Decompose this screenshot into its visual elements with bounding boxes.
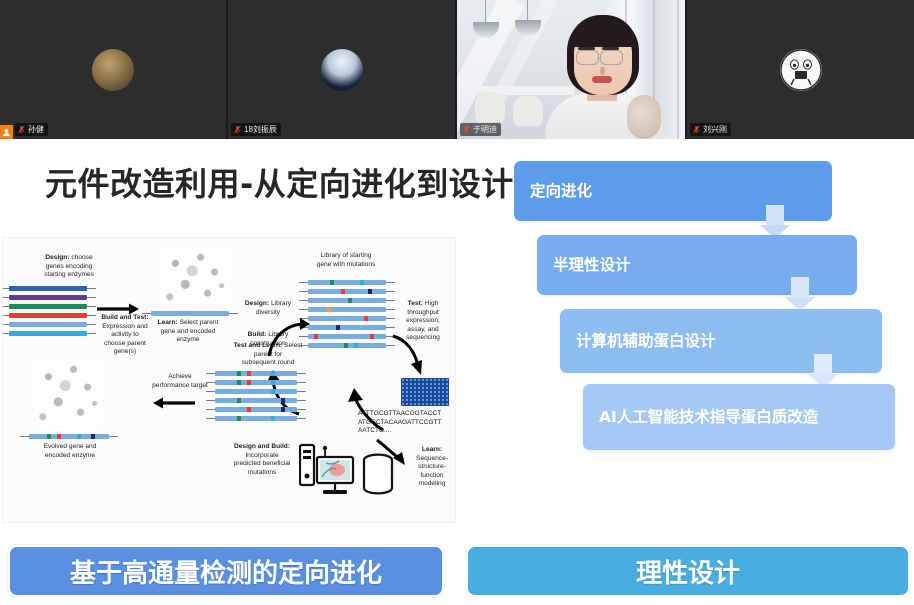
gene-bar-library [308,307,386,312]
host-badge-icon [0,125,13,139]
sequencing-plate-image [401,378,449,406]
directed-evolution-figure: Design: choose genes encoding starting e… [2,237,456,523]
webcam-video [457,0,685,139]
avatar [780,49,822,91]
figure-label-design-head: Design: [45,254,69,261]
mic-muted-icon [463,125,470,134]
figure-label-test-head: Test: [408,300,423,307]
participant-tile-active-speaker[interactable]: 于明迪 [455,0,685,139]
flow-step-3-label: 计算机辅助蛋白设计 [576,330,716,352]
figure-label-db-head: Design and Build: [234,443,290,450]
avatar [92,49,134,91]
gene-bar [9,286,87,291]
figure-label-dl-head: Design: [245,300,269,307]
dna-sequence-text: ATTTGCGTTAACGGTACCT ATGGCTACAAGATTCCGTT … [358,410,442,436]
participant-nameplate: 刘兴刚 [690,123,731,136]
gene-bar-library [308,316,386,321]
participant-tile[interactable]: 刘兴刚 [685,0,914,139]
figure-label-db-body: Incorporate predicted beneficial mutatio… [234,452,291,476]
figure-label-library-title: Library of starting gene with mutations [298,252,394,269]
gene-bar-improved [215,398,297,403]
avatar [321,49,363,91]
banner-right[interactable]: 理性设计 [466,545,910,597]
gene-bar-improved [215,407,297,412]
figure-label-achieve: Achieve performance target [143,373,217,390]
page-title: 元件改造利用-从定向进化到设计 [45,159,514,205]
gene-bar-library [308,298,386,303]
gene-bar-library [308,280,386,285]
gene-bar-improved [215,380,297,385]
figure-label-lseq-head: Learn: [422,446,442,453]
figure-label-build-and-test: Build and Test: Expression and activity … [95,314,155,357]
figure-label-bt-head: Build and Test: [101,314,148,321]
participant-name: 18刘振辰 [244,123,277,136]
gene-bar-evolved [29,434,109,439]
figure-label-design-build: Design and Build: Incorporate predicted … [218,443,306,477]
flow-step-1-label: 定向进化 [530,180,592,202]
gene-bar [9,304,87,309]
participant-name: 于明迪 [473,123,497,136]
flow-arrow-1-icon [760,205,790,239]
evolved-protein-structure-image [33,356,103,430]
figure-label-ls-head: Learn: [158,319,178,326]
gene-bar-library [308,334,386,339]
figure-label-test-learn: Test and Learn: Select parent for subseq… [229,342,307,368]
flow-step-4[interactable]: AI人工智能技术指导蛋白质改造 [583,384,895,450]
figure-label-learn-seq: Learn: Sequence- structure- function mod… [409,446,455,489]
participant-tile[interactable]: 孙健 [0,0,226,139]
cartoon-face-icon [780,49,822,91]
gene-bar-parent [151,311,229,316]
participant-name: 孙健 [28,123,44,136]
gene-bar-improved [215,416,297,421]
flow-arrow-3-icon [808,354,838,388]
video-conference-strip: 孙健 18刘振辰 [0,0,914,139]
screen-root: 孙健 18刘振辰 [0,0,914,605]
banner-left[interactable]: 基于高通量检测的定向进化 [8,545,444,597]
figure-label-lseq-body: Sequence- structure- function modeling [416,455,448,488]
figure-label-bt-body: Expression and activity to choose parent… [102,323,147,356]
participant-nameplate: 18刘振辰 [231,123,281,136]
participant-nameplate: 于明迪 [460,123,501,136]
participant-tile[interactable]: 18刘振辰 [226,0,455,139]
figure-label-bl-head: Build: [248,331,267,338]
achieve-arrow-icon [146,396,196,410]
mic-muted-icon [234,125,241,134]
participant-name: 刘兴刚 [703,123,727,136]
gene-bar-library [308,343,386,348]
banner-right-label: 理性设计 [636,553,740,590]
flow-arrow-2-icon [785,277,815,311]
protein-structure-image [160,246,230,308]
participant-nameplate: 孙健 [15,123,48,136]
flow-step-4-label: AI人工智能技术指导蛋白质改造 [599,406,818,428]
figure-label-evolved: Evolved gene and encoded enzyme [25,443,115,460]
gene-bar-improved [215,389,297,394]
database-icon [361,453,395,495]
banner-left-label: 基于高通量检测的定向进化 [70,553,382,590]
gene-bar-improved [215,371,297,376]
mic-muted-icon [18,125,25,134]
presentation-slide: 元件改造利用-从定向进化到设计 Design: choose genes enc… [0,139,914,605]
gene-bar [9,322,87,327]
flow-step-2-label: 半理性设计 [553,254,631,276]
figure-label-design-choose: Design: choose genes encoding starting e… [21,254,117,280]
figure-label-tl-head: Test and Learn: [234,342,283,349]
gene-bar-library [308,289,386,294]
gene-bar [9,295,87,300]
figure-label-design-library: Design: Library diversity [235,300,301,317]
figure-label-learn-select: Learn: Select parent gene and encoded en… [149,319,227,345]
gene-bar-library [308,325,386,330]
cycle-arrow-icon [391,334,425,376]
gene-bar [9,331,87,336]
gene-bar [9,313,87,318]
mic-muted-icon [693,125,700,134]
computer-icon [299,443,355,499]
